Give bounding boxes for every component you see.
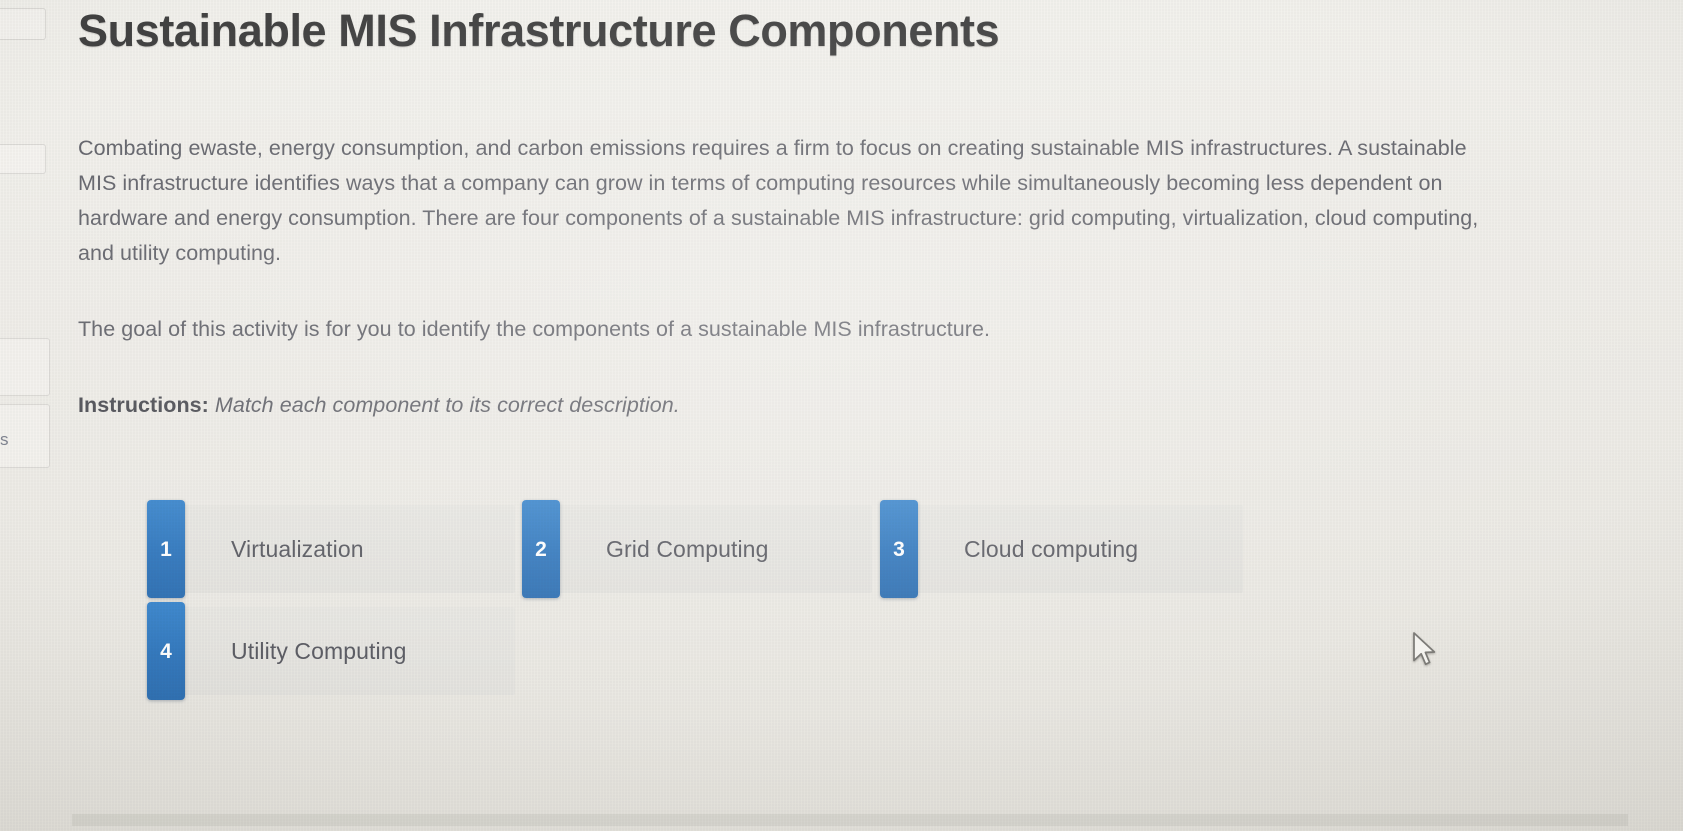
- match-item-label-3: Cloud computing: [880, 536, 1164, 563]
- goal-paragraph: The goal of this activity is for you to …: [78, 312, 1538, 347]
- match-items-area: 1 Virtualization 2 Grid Computing 3 Clou…: [147, 505, 1243, 695]
- match-item-utility-computing[interactable]: 4 Utility Computing: [147, 607, 515, 695]
- sidebar-edge-panel-1: [0, 8, 46, 40]
- match-item-slot-3: 3 Cloud computing: [880, 505, 1243, 593]
- match-item-slot-1: 1 Virtualization: [147, 505, 515, 593]
- sidebar-edge-panel-2: [0, 144, 46, 174]
- instructions-label: Instructions:: [78, 393, 215, 417]
- match-item-cloud-computing[interactable]: 3 Cloud computing: [880, 505, 1243, 593]
- match-item-number-badge-1[interactable]: 1: [147, 500, 185, 598]
- sidebar-text-fragment: s: [0, 430, 9, 450]
- match-items-row-1: 1 Virtualization 2 Grid Computing 3 Clou…: [147, 505, 1243, 593]
- match-item-slot-2: 2 Grid Computing: [522, 505, 872, 593]
- bottom-chrome-band: [72, 814, 1628, 826]
- intro-paragraph: Combating ewaste, energy consumption, an…: [78, 131, 1504, 270]
- match-item-grid-computing[interactable]: 2 Grid Computing: [522, 505, 872, 593]
- match-item-label-2: Grid Computing: [522, 536, 794, 563]
- page-title: Sustainable MIS Infrastructure Component…: [78, 0, 1538, 57]
- match-item-slot-4: 4 Utility Computing: [147, 607, 515, 695]
- match-item-number-badge-3[interactable]: 3: [880, 500, 918, 598]
- match-item-number-badge-2[interactable]: 2: [522, 500, 560, 598]
- instructions-line: Instructions: Match each component to it…: [78, 393, 1538, 418]
- match-item-virtualization[interactable]: 1 Virtualization: [147, 505, 515, 593]
- instructions-text: Match each component to its correct desc…: [215, 393, 680, 417]
- match-item-number-badge-4[interactable]: 4: [147, 602, 185, 700]
- sidebar-edge-panel-3: [0, 338, 50, 396]
- match-items-row-2: 4 Utility Computing: [147, 607, 1243, 695]
- activity-content: Sustainable MIS Infrastructure Component…: [78, 0, 1538, 418]
- match-item-label-4: Utility Computing: [147, 638, 433, 665]
